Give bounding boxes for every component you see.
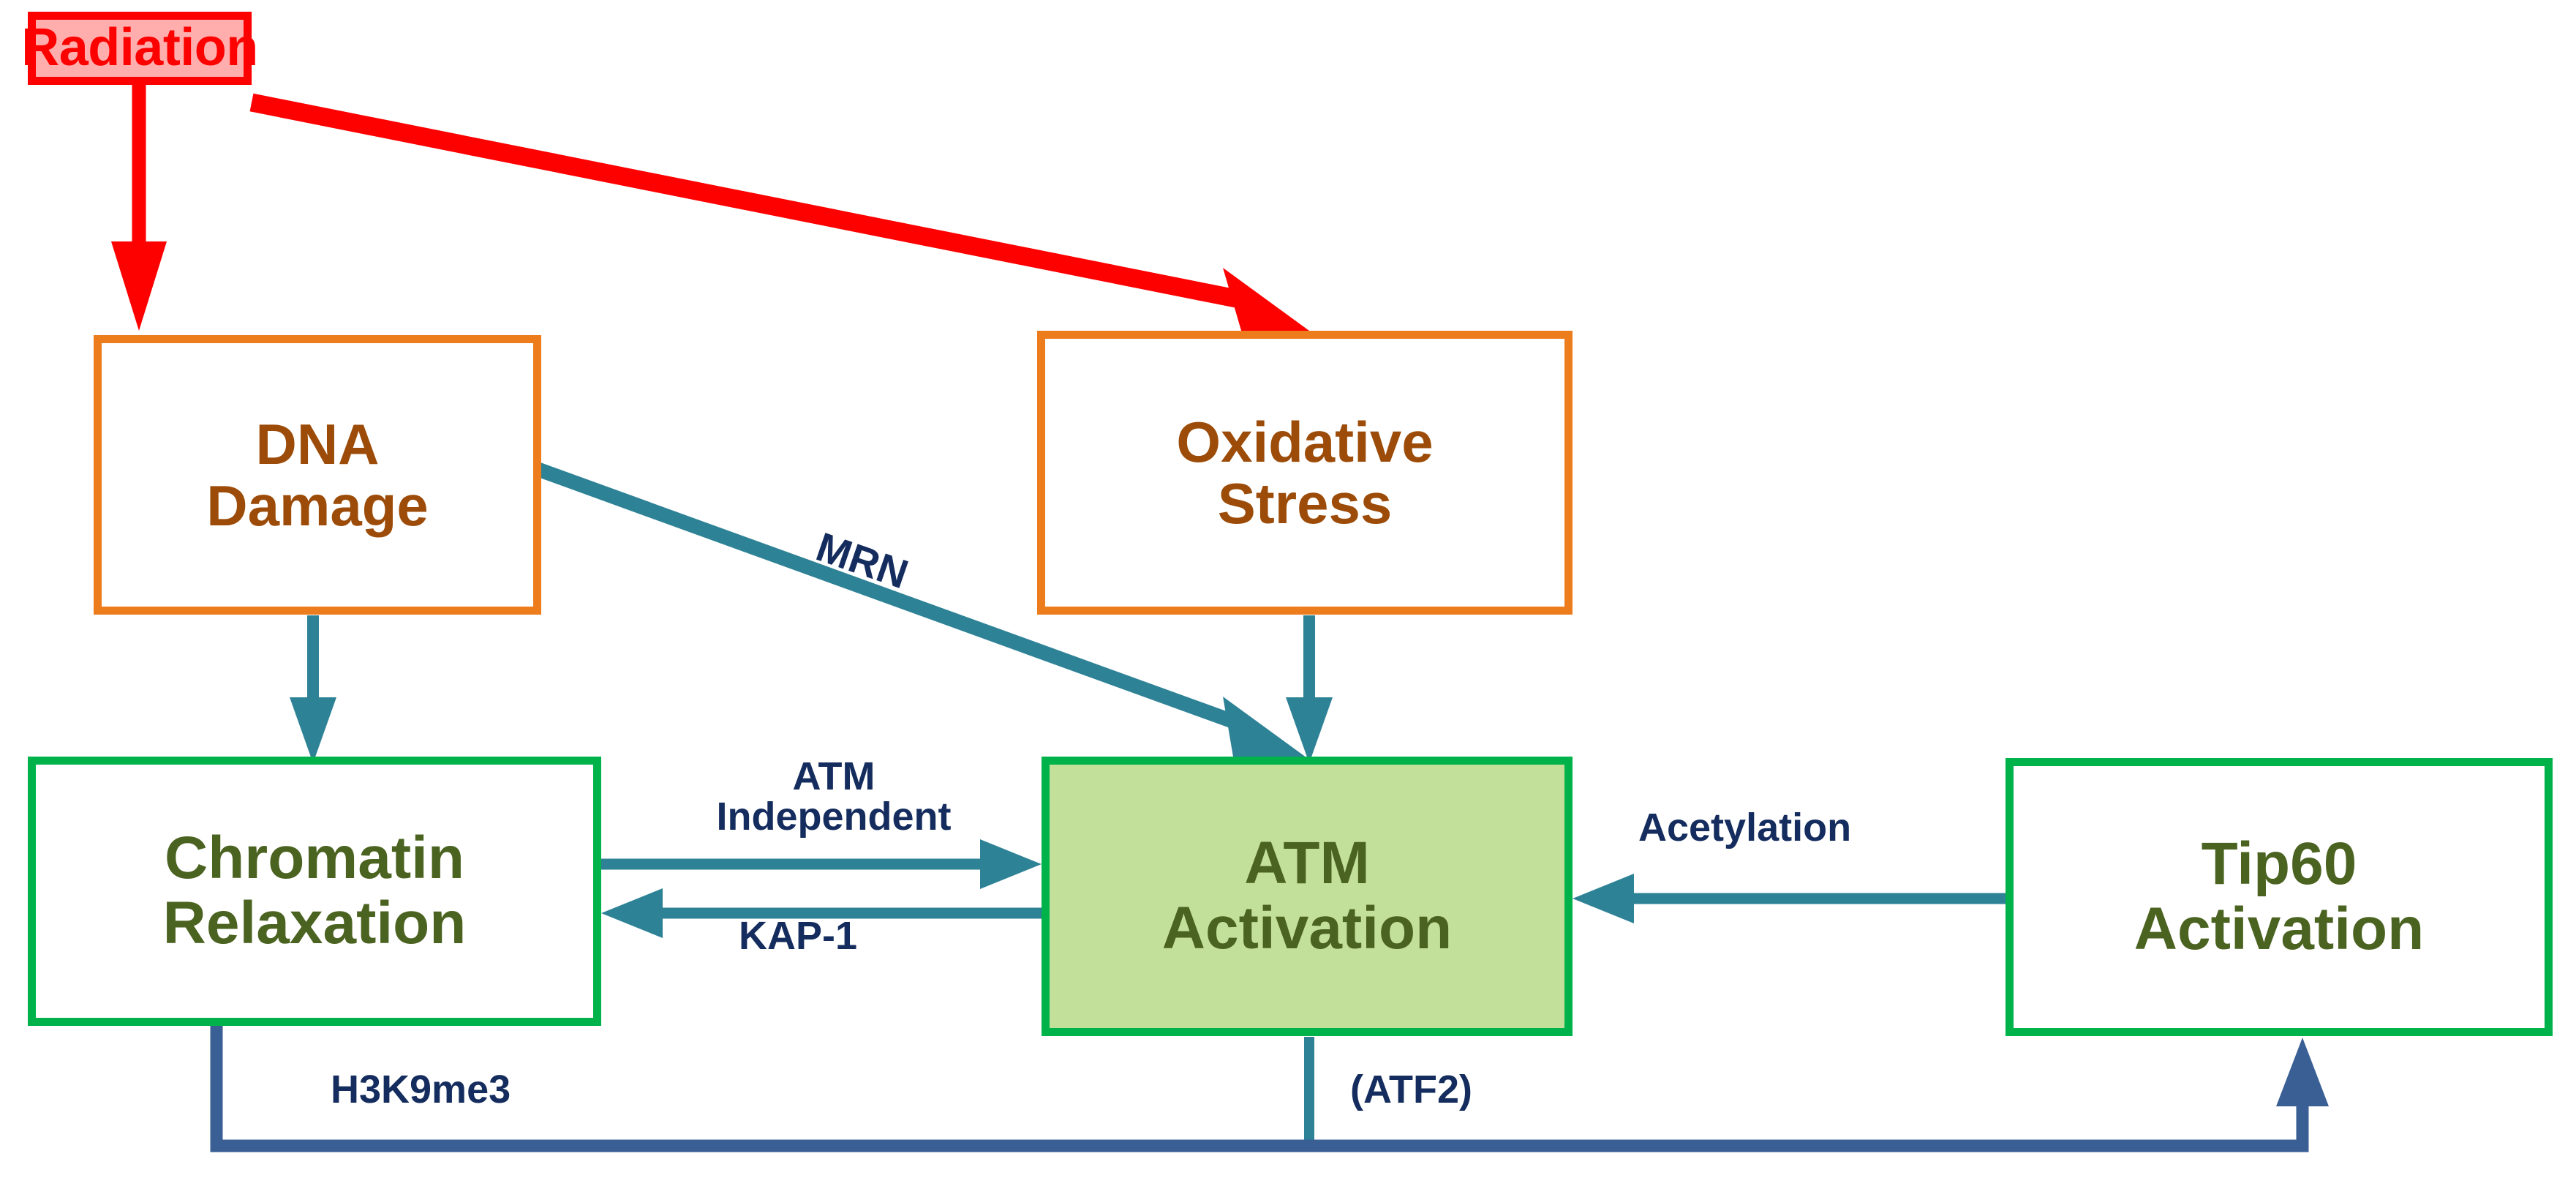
edge-tip60-activation-to-atm-activation [1573, 874, 2006, 923]
edge-label-h3k9me3: H3K9me3 [331, 1070, 511, 1110]
node-atm-activation-line-2: Activation [1162, 896, 1452, 961]
node-oxidative-stress-line-2: Stress [1218, 473, 1393, 534]
node-radiation-line-1: Radiation [21, 20, 258, 77]
node-oxidative-stress-line-1: Oxidative [1176, 411, 1433, 473]
edge-label-kap1: KAP-1 [739, 916, 857, 956]
edge-label-atm-independent: ATM Independent [614, 757, 1053, 837]
edge-chromatin-relaxation-to-tip60-activation [216, 1026, 2329, 1146]
node-oxidative-stress[interactable]: Oxidative Stress [1037, 331, 1573, 615]
edge-radiation-to-oxidative-stress [252, 102, 1309, 338]
node-tip60-activation-line-2: Activation [2134, 897, 2424, 962]
node-radiation[interactable]: Radiation [28, 12, 252, 85]
edge-oxidative-stress-to-atm-activation [1286, 615, 1333, 763]
edge-label-atm-independent-line-2: Independent [614, 797, 1053, 837]
node-chromatin-relaxation-line-1: Chromatin [165, 826, 464, 891]
edge-chromatin-relaxation-to-atm-activation [601, 839, 1042, 889]
pathway-diagram-canvas: Radiation DNA Damage Oxidative Stress Ch… [0, 0, 2576, 1200]
edge-label-acetylation: Acetylation [1638, 808, 1851, 848]
node-dna-damage-line-2: Damage [206, 475, 428, 536]
edge-label-mrn: MRN [811, 525, 913, 596]
node-dna-damage[interactable]: DNA Damage [94, 335, 541, 615]
edge-label-atm-independent-line-1: ATM [614, 757, 1053, 797]
node-chromatin-relaxation[interactable]: Chromatin Relaxation [28, 757, 601, 1026]
node-tip60-activation[interactable]: Tip60 Activation [2006, 758, 2553, 1036]
edge-dna-damage-to-chromatin-relaxation [290, 615, 336, 763]
node-chromatin-relaxation-line-2: Relaxation [163, 891, 467, 956]
node-atm-activation[interactable]: ATM Activation [1042, 757, 1573, 1036]
node-tip60-activation-line-1: Tip60 [2202, 832, 2357, 897]
edge-label-atf2: (ATF2) [1350, 1070, 1472, 1110]
node-atm-activation-line-1: ATM [1244, 831, 1370, 896]
edge-radiation-to-dna-damage [111, 85, 167, 331]
node-dna-damage-line-1: DNA [256, 413, 380, 475]
